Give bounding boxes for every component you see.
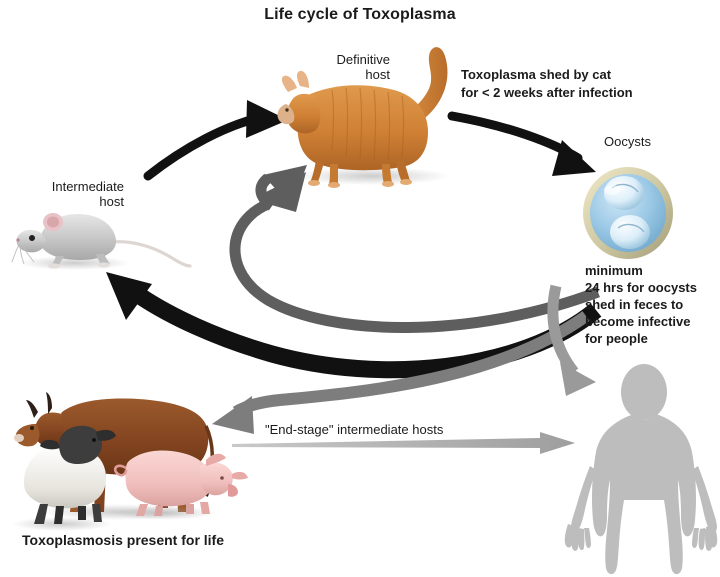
pig-illustration [115, 450, 248, 520]
arrow-mouse-to-cat [148, 100, 288, 176]
page-title: Life cycle of Toxoplasma [0, 6, 720, 24]
arrow-cat-to-oocysts [452, 116, 596, 176]
annotation-shed-by-cat: Toxoplasma shed by cat for < 2 weeks aft… [461, 66, 633, 101]
arrow-oocysts-to-cat [235, 165, 598, 328]
human-silhouette [565, 364, 718, 574]
label-end-stage-intermediate-hosts: "End-stage" intermediate hosts [265, 423, 443, 438]
figure-canvas: Life cycle of Toxoplasma Definitive host… [0, 0, 720, 577]
annotation-minimum-24-hrs: minimum 24 hrs for oocysts shed in feces… [585, 263, 697, 347]
label-definitive-host: Definitive host [272, 53, 390, 83]
label-oocysts: Oocysts [604, 135, 651, 150]
oocysts-illustration [583, 167, 673, 259]
label-intermediate-host: Intermediate host [6, 180, 124, 210]
label-toxoplasmosis-present-for-life: Toxoplasmosis present for life [22, 532, 224, 548]
mouse-illustration [12, 213, 190, 270]
